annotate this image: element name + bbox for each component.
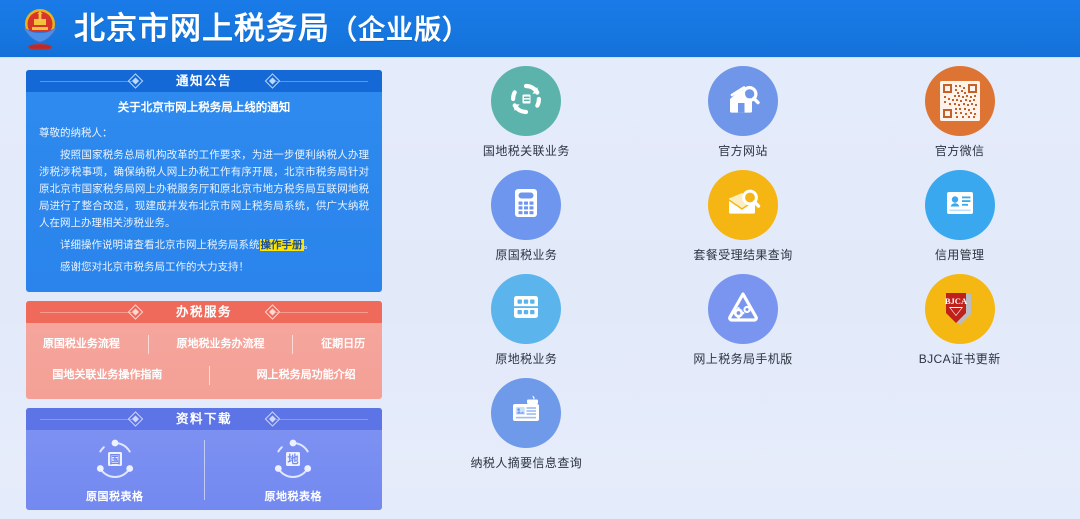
tile-circle: BJCA [925, 274, 995, 344]
service-panel-header: 办税服务 [26, 301, 382, 323]
bjca-shield-icon: BJCA [939, 288, 981, 330]
notice-panel-title: 通知公告 [150, 75, 258, 88]
header-inner: 北京市网上税务局（企业版） [0, 5, 470, 53]
download-panel-header: 资料下载 [26, 408, 382, 430]
tile-circle [708, 170, 778, 240]
service-link-guoshui-process[interactable]: 原国税业务流程 [37, 339, 126, 350]
decor-rule-left [40, 419, 132, 420]
divider [148, 335, 149, 354]
tile-label: 纳税人摘要信息查询 [471, 457, 583, 469]
service-panel: 办税服务 原国税业务流程 原地税业务办流程 征期日历 国地关联业务操作指南 网上… [26, 301, 382, 399]
tile-circle [708, 66, 778, 136]
china-tax-emblem-icon [14, 5, 66, 53]
tile-circle [491, 170, 561, 240]
tile-label: 信用管理 [935, 249, 985, 261]
house-search-icon [723, 79, 763, 124]
notice-paragraph-3: 感谢您对北京市税务局工作的大力支持！ [39, 259, 369, 276]
decor-rule-left [40, 81, 132, 82]
download-items: 国 原国税表格 [26, 430, 382, 510]
download-item-guoshui-forms[interactable]: 国 原国税表格 [26, 437, 204, 503]
service-link-feature-intro[interactable]: 网上税务局功能介绍 [251, 370, 362, 381]
service-link-dishui-process[interactable]: 原地税业务办流程 [170, 339, 270, 350]
app-title-main: 北京市网上税务局 [74, 11, 330, 46]
manual-link[interactable]: 操作手册 [260, 239, 304, 251]
service-row: 国地关联业务操作指南 网上税务局功能介绍 [26, 361, 382, 391]
app-header: 北京市网上税务局（企业版） [0, 0, 1080, 57]
tile-label: 官方网站 [718, 145, 768, 157]
divider [292, 335, 293, 354]
info-card-icon [506, 391, 546, 436]
notice-paragraph-2: 详细操作说明请查看北京市网上税务局系统操作手册。 [39, 237, 369, 254]
app-title: 北京市网上税务局（企业版） [74, 13, 470, 44]
tile-mobile-version[interactable]: 网上税务局手机版 [635, 274, 852, 378]
notice-paragraph-1: 按照国家税务总局机构改革的工作要求，为进一步便利纳税人办理涉税涉税事项，确保纳税… [39, 147, 369, 232]
tile-circle [925, 170, 995, 240]
svg-text:国: 国 [109, 453, 120, 466]
download-panel-title: 资料下载 [150, 413, 258, 426]
calculator-icon [506, 183, 546, 228]
tile-taxpayer-summary-query[interactable]: 纳税人摘要信息查询 [418, 378, 635, 482]
download-label-guoshui-forms: 原国税表格 [86, 492, 144, 503]
notice-subtitle: 关于北京市网上税务局上线的通知 [39, 101, 369, 116]
tile-circle [708, 274, 778, 344]
decor-rule-right [276, 419, 368, 420]
tile-official-wechat[interactable]: 官方微信 [851, 66, 1068, 170]
app-title-suffix: （企业版） [330, 15, 470, 45]
tile-label: 套餐受理结果查询 [693, 249, 792, 261]
notice-body: 关于北京市网上税务局上线的通知 尊敬的纳税人： 按照国家税务总局机构改革的工作要… [26, 92, 382, 292]
tile-label: 原国税业务 [495, 249, 557, 261]
tile-circle [925, 66, 995, 136]
envelope-search-icon [723, 183, 763, 228]
tile-circle [491, 66, 561, 136]
tile-label: 原地税业务 [495, 353, 557, 365]
refresh-sync-icon [506, 79, 546, 124]
notice-salutation: 尊敬的纳税人： [39, 125, 369, 142]
tile-bjca-cert-update[interactable]: BJCA BJCA证书更新 [851, 274, 1068, 378]
service-links: 原国税业务流程 原地税业务办流程 征期日历 国地关联业务操作指南 网上税务局功能… [26, 323, 382, 399]
tile-official-website[interactable]: 官方网站 [635, 66, 852, 170]
diamond-decor-left-icon [128, 411, 144, 427]
diamond-decor-left-icon [128, 304, 144, 320]
decor-rule-right [276, 312, 368, 313]
grid-table-icon [506, 287, 546, 332]
tile-guodishui-joint[interactable]: 国地税关联业务 [418, 66, 635, 170]
tile-former-guoshui-business[interactable]: 原国税业务 [418, 170, 635, 274]
svg-text:地: 地 [288, 452, 299, 466]
service-tile-grid: 国地税关联业务 官方网站 [418, 66, 1068, 482]
diamond-decor-left-icon [128, 73, 144, 89]
download-label-dishui-forms: 原地税表格 [265, 492, 323, 503]
tile-label: 官方微信 [935, 145, 985, 157]
circle-node-di-icon: 地 [270, 437, 316, 488]
id-card-icon [940, 183, 980, 228]
app-gear-icon [723, 287, 763, 332]
tile-label: BJCA证书更新 [919, 353, 1001, 365]
download-item-dishui-forms[interactable]: 地 原地税表格 [205, 437, 383, 503]
tile-label: 国地税关联业务 [483, 145, 570, 157]
tile-package-result-query[interactable]: 套餐受理结果查询 [635, 170, 852, 274]
notice-panel-header: 通知公告 [26, 70, 382, 92]
notice-p2-after: 。 [304, 239, 315, 251]
page-root: 北京市网上税务局（企业版） 通知公告 关于北京市网上税务局上线的通知 尊敬的纳税… [0, 0, 1080, 489]
notice-panel: 通知公告 关于北京市网上税务局上线的通知 尊敬的纳税人： 按照国家税务总局机构改… [26, 70, 382, 292]
tile-circle [491, 378, 561, 448]
service-panel-title: 办税服务 [150, 306, 258, 319]
decor-rule-left [40, 312, 132, 313]
service-link-joint-guide[interactable]: 国地关联业务操作指南 [46, 370, 168, 381]
circle-node-guo-icon: 国 [92, 437, 138, 488]
divider [209, 366, 210, 385]
decor-rule-right [276, 81, 368, 82]
tile-label: 网上税务局手机版 [693, 353, 792, 365]
tile-circle [491, 274, 561, 344]
tile-former-dishui-business[interactable]: 原地税业务 [418, 274, 635, 378]
tile-credit-management[interactable]: 信用管理 [851, 170, 1068, 274]
download-panel: 资料下载 国 [26, 408, 382, 510]
qr-code-icon [940, 81, 980, 121]
notice-p2-before: 详细操作说明请查看北京市网上税务局系统 [60, 239, 260, 251]
service-link-tax-calendar[interactable]: 征期日历 [315, 339, 371, 350]
left-column: 通知公告 关于北京市网上税务局上线的通知 尊敬的纳税人： 按照国家税务总局机构改… [26, 70, 382, 519]
service-row: 原国税业务流程 原地税业务办流程 征期日历 [26, 330, 382, 360]
svg-text:BJCA: BJCA [945, 296, 968, 306]
